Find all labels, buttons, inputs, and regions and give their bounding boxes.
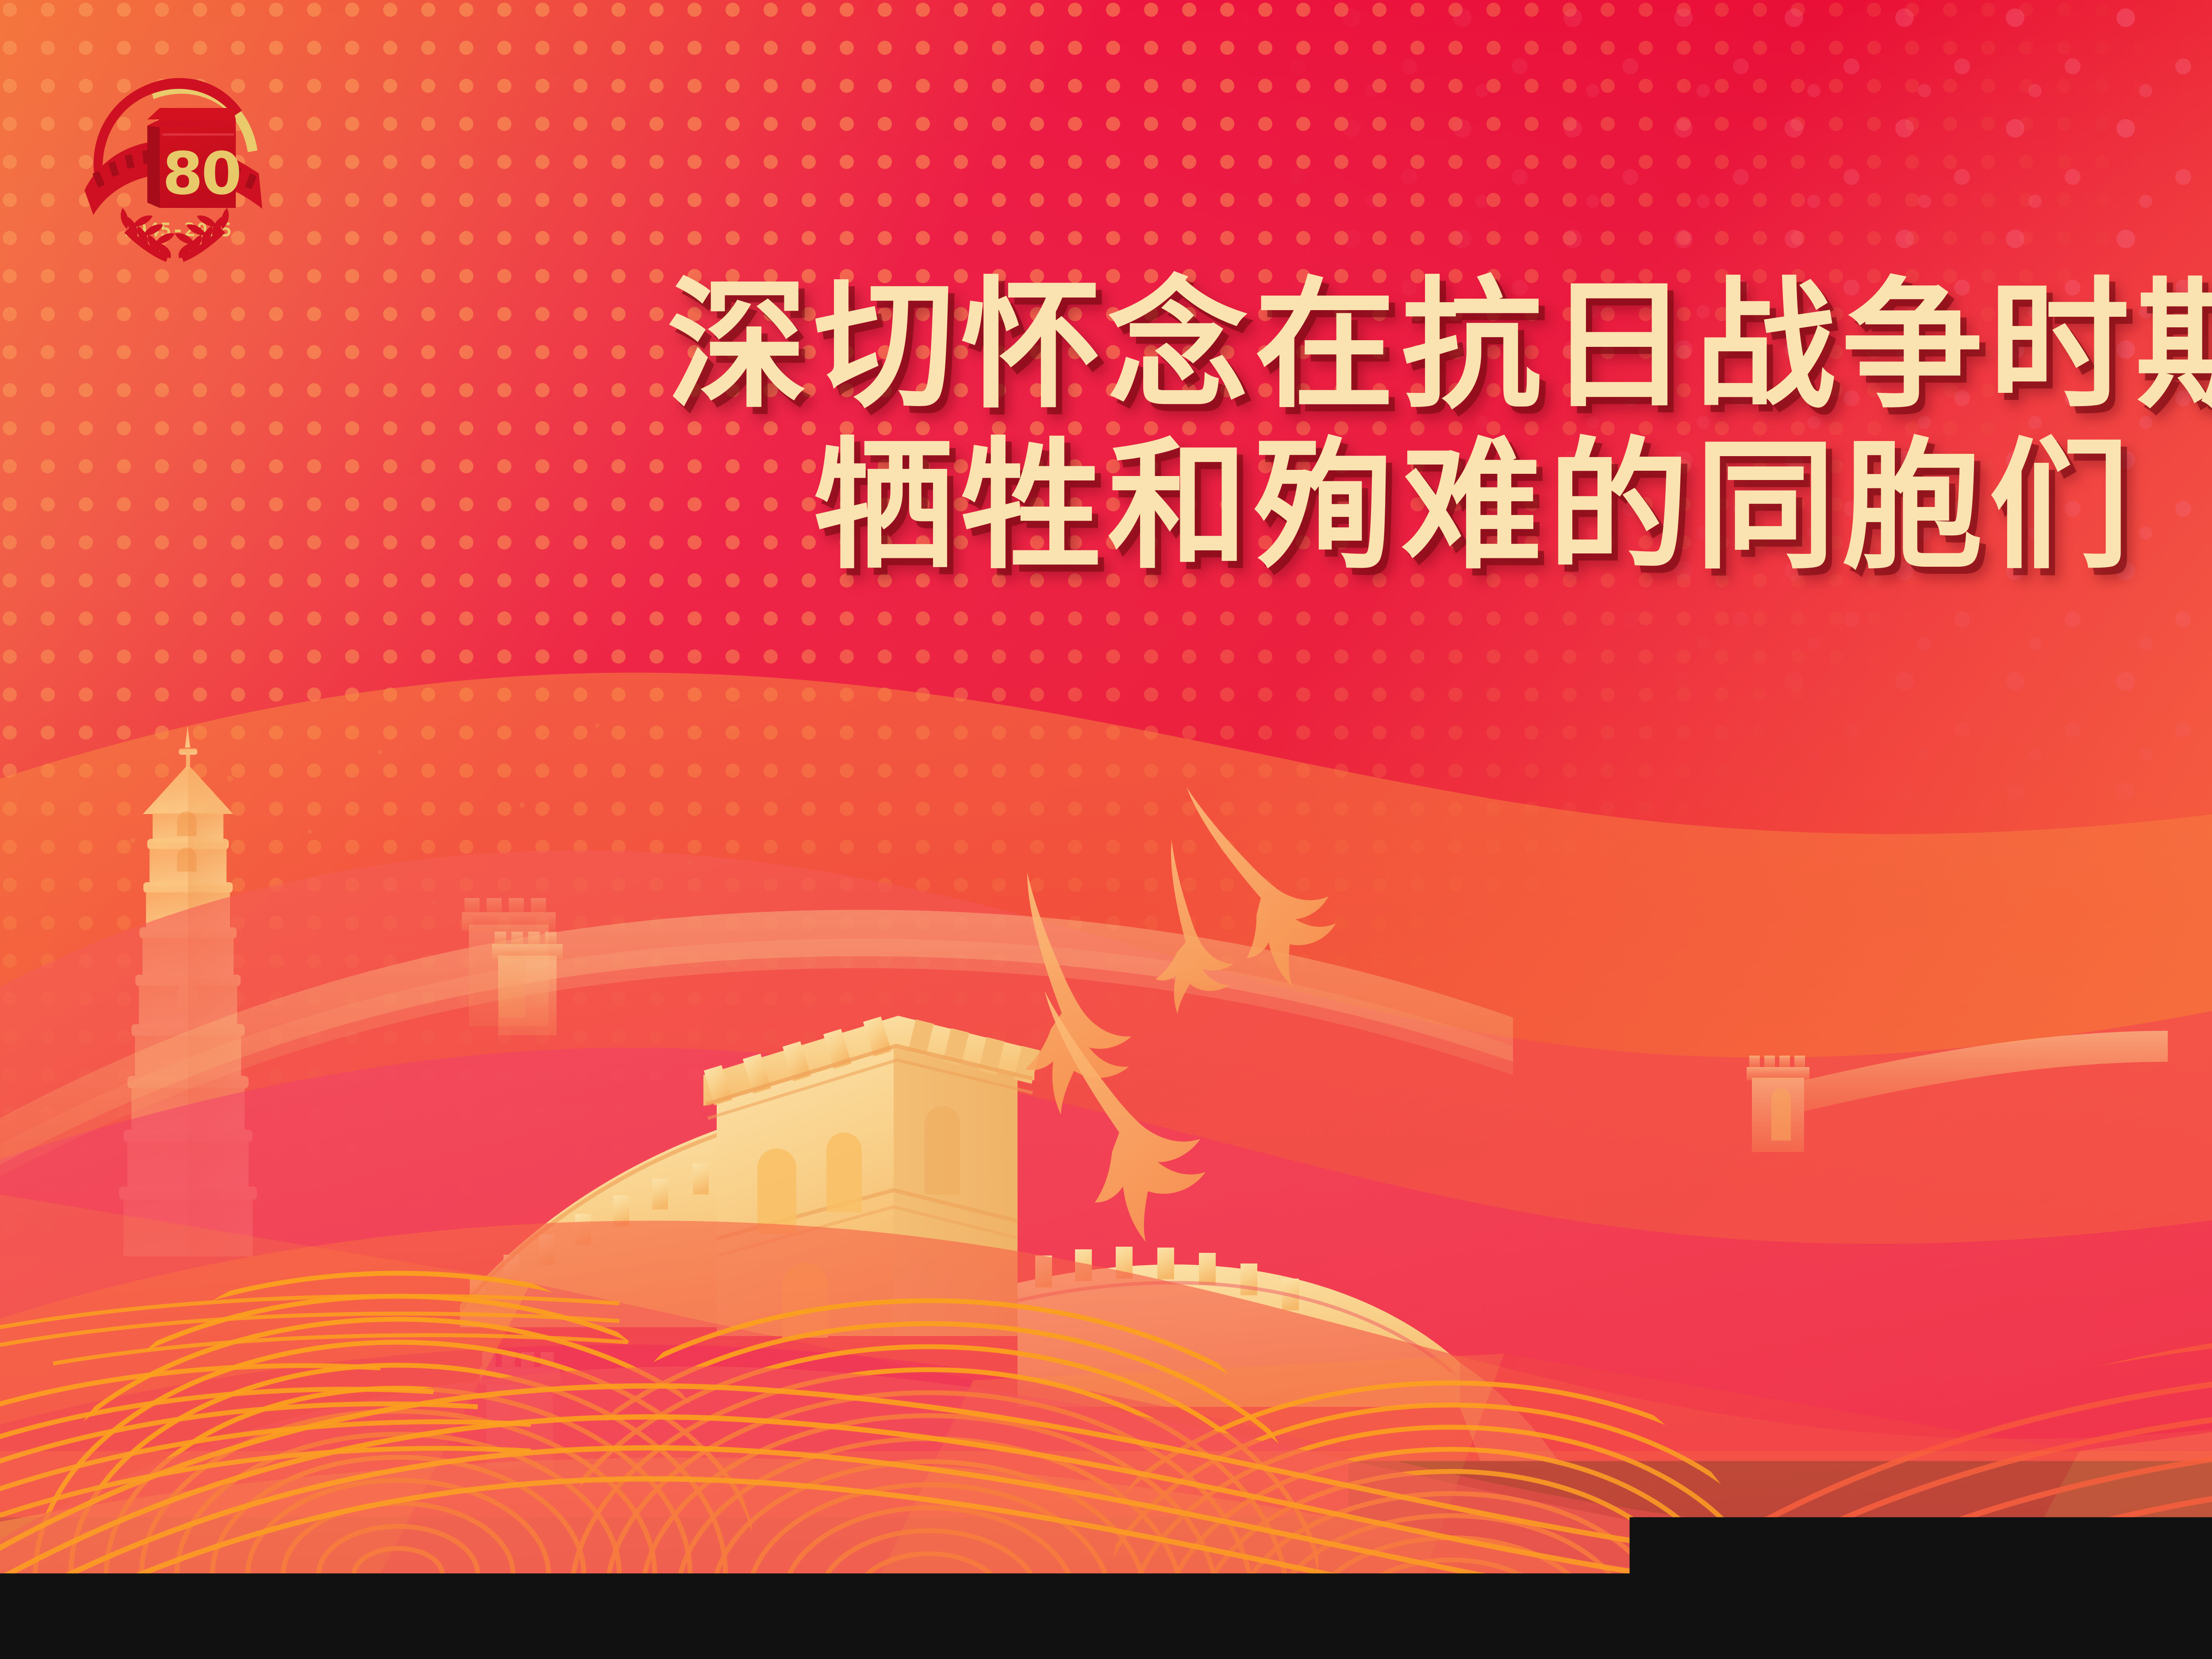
emblem-anniversary-number: 80 xyxy=(162,140,240,208)
anniversary-emblem: 80 1945-2025 xyxy=(73,53,276,265)
bottom-warm-glow xyxy=(0,1451,2212,1659)
poster-canvas: 深切怀念在抗日战争时期 牺牲和殉难的同胞们 xyxy=(0,0,2212,1659)
foreground-pattern-layer xyxy=(0,0,2212,1659)
emblem-artwork: 80 1945-2025 xyxy=(73,53,276,265)
